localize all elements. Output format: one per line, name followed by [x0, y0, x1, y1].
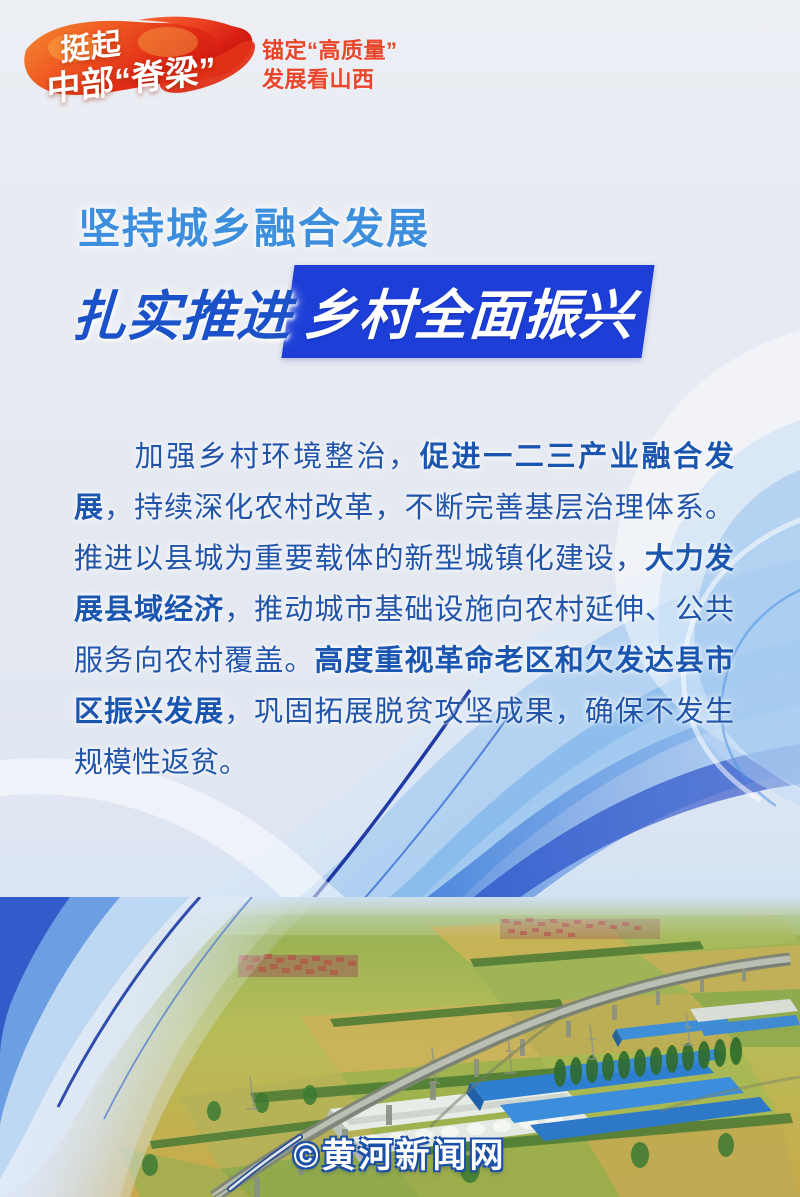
poster: 挺起 中部“脊梁” 锚定“高质量” 发展看山西 坚持城乡融合发展 扎实推进 乡村…	[0, 0, 800, 1197]
watermark: ©黄河新闻网	[0, 1128, 800, 1177]
paragraph-text: 加强乡村环境整治，	[132, 441, 420, 473]
headline-highlight-text: 乡村全面振兴	[302, 271, 636, 350]
headline-plain-text: 扎实推进	[70, 272, 294, 351]
headline-line2: 扎实推进 乡村全面振兴	[72, 275, 648, 347]
headline-line1: 坚持城乡融合发展	[78, 195, 430, 256]
headline-highlight-block: 乡村全面振兴	[281, 265, 654, 358]
header-tagline-line2: 发展看山西	[262, 65, 398, 94]
paragraph-segments: 加强乡村环境整治，促进一二三产业融合发展，持续深化农村改革，不断完善基层治理体系…	[74, 441, 734, 779]
brand-logo-text: 挺起 中部“脊梁”	[18, 8, 268, 113]
header-tagline: 锚定“高质量” 发展看山西	[262, 36, 398, 94]
header-tagline-line1: 锚定“高质量”	[262, 36, 398, 65]
paragraph-text: ，持续深化农村改革，不断完善基层治理体系。推进以县城为重要载体的新型城镇化建设，	[74, 492, 734, 575]
body-paragraph: 加强乡村环境整治，促进一二三产业融合发展，持续深化农村改革，不断完善基层治理体系…	[74, 432, 734, 789]
brand-logo: 挺起 中部“脊梁”	[18, 8, 268, 113]
header: 挺起 中部“脊梁” 锚定“高质量” 发展看山西	[0, 0, 800, 125]
